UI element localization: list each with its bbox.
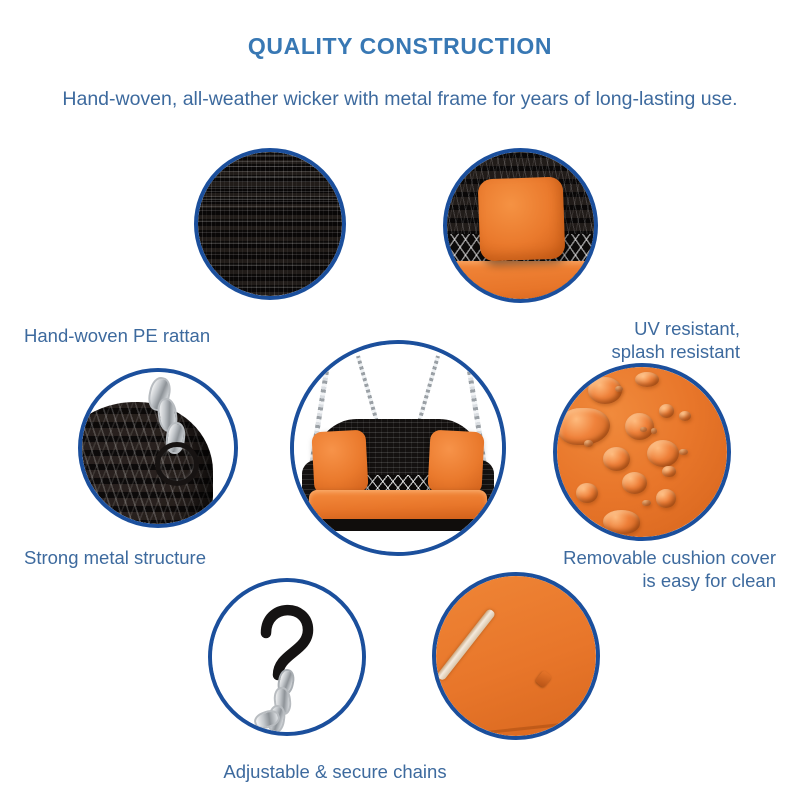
frame-loop-bracket xyxy=(155,442,199,486)
pillow-photo xyxy=(447,152,594,299)
swing-base-rail xyxy=(313,519,484,531)
chains-photo xyxy=(212,582,362,732)
caption-uv-resistant: UV resistant, splash resistant xyxy=(430,317,740,363)
zipper-photo xyxy=(436,576,596,736)
feature-circle-water-repellent xyxy=(553,363,731,541)
metal-frame-photo xyxy=(82,372,234,524)
caption-removable-cover: Removable cushion cover is easy for clea… xyxy=(450,546,776,592)
orange-fabric xyxy=(557,367,727,537)
rattan-photo xyxy=(198,152,342,296)
caption-rattan: Hand-woven PE rattan xyxy=(24,324,324,347)
swing-seat-cushion xyxy=(309,490,488,521)
feature-circle-chains xyxy=(208,578,366,736)
swing-pillow-right xyxy=(428,430,485,495)
caption-chains: Adjustable & secure chains xyxy=(170,760,500,783)
rattan-highlight-band xyxy=(198,152,342,207)
page-subtitle: Hand-woven, all-weather wicker with meta… xyxy=(0,88,800,111)
feature-circle-metal-frame xyxy=(78,368,238,528)
feature-circle-zipper xyxy=(432,572,600,740)
throw-pillow xyxy=(478,177,566,262)
infographic-page: QUALITY CONSTRUCTION Hand-woven, all-wea… xyxy=(0,0,800,800)
feature-circle-pillow xyxy=(443,148,598,303)
page-title: QUALITY CONSTRUCTION xyxy=(0,33,800,60)
swing-pillow-left xyxy=(311,430,368,495)
hero-circle-porch-swing xyxy=(290,340,506,556)
seat-cushion xyxy=(447,261,594,299)
feature-circle-rattan xyxy=(194,148,346,300)
porch-swing-photo xyxy=(294,344,502,552)
water-repellent-photo xyxy=(557,367,727,537)
caption-metal-structure: Strong metal structure xyxy=(24,546,344,569)
